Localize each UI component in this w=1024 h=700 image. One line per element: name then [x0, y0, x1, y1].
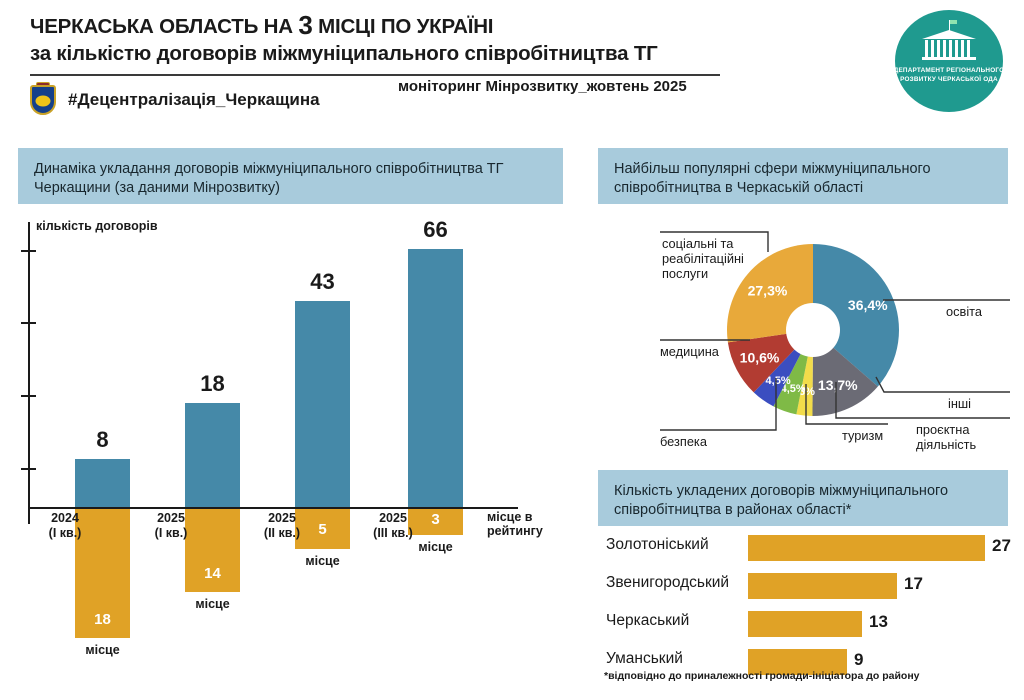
- bar-value-label: 8: [75, 427, 130, 453]
- y-axis-tick: [21, 468, 36, 470]
- banner-rayons: Кількість укладених договорів міжмуніцип…: [598, 470, 1008, 526]
- bar-rank-caption: місце: [175, 597, 250, 611]
- y-axis-tick: [21, 395, 36, 397]
- banner-spheres: Найбільш популярні сфери міжмуніципально…: [598, 148, 1008, 204]
- page-title-prefix: ЧЕРКАСЬКА ОБЛАСТЬ НА: [30, 15, 298, 38]
- banner-dynamics: Динаміка укладання договорів міжмуніципа…: [18, 148, 563, 204]
- x-category-label: 2024(І кв.): [30, 511, 100, 541]
- y-axis-tick: [21, 322, 36, 324]
- rayon-name: Уманський: [606, 650, 683, 668]
- bar-rank-caption: місце: [398, 540, 473, 554]
- donut-label-safety: безпека: [660, 434, 707, 449]
- bar-positive: [408, 249, 463, 507]
- donut-label-medicine: медицина: [660, 344, 719, 359]
- bar-positive: [75, 459, 130, 507]
- bar-rank-value: 14: [185, 565, 240, 582]
- rayon-bar: [748, 611, 862, 637]
- dynamics-bar-chart: кількість договорів місце в рейтингу 8 1…: [0, 205, 570, 675]
- y-axis: [28, 222, 30, 524]
- spheres-donut-chart: 36,4%13,7%3%4,5%4,5%10,6%27,3% соціальні…: [598, 212, 1018, 462]
- bar-rank-value: 18: [75, 611, 130, 628]
- page-title-rank: 3: [298, 10, 312, 40]
- y-axis-label: кількість договорів: [36, 219, 158, 233]
- title-divider: [30, 74, 720, 76]
- rayon-row: Звенигородський 17: [598, 572, 1018, 600]
- donut-slice-percent: 4,5%: [766, 375, 791, 387]
- title-block: ЧЕРКАСЬКА ОБЛАСТЬ НА 3 МІСЦІ ПО УКРАЇНІ …: [30, 12, 730, 67]
- rayon-value: 13: [869, 612, 888, 632]
- page-title-line-1: ЧЕРКАСЬКА ОБЛАСТЬ НА 3 МІСЦІ ПО УКРАЇНІ: [30, 12, 730, 40]
- x-category-label: 2025(ІІ кв.): [247, 511, 317, 541]
- donut-slice-percent: 27,3%: [748, 283, 788, 299]
- rayon-row: Черкаський 13: [598, 610, 1018, 638]
- hashtag-row: #Децентралізація_Черкащина: [28, 82, 320, 118]
- rayon-name: Звенигородський: [606, 574, 729, 592]
- x-category-label: 2025(ІІІ кв.): [358, 511, 428, 541]
- bar-positive: [295, 301, 350, 507]
- bar-value-label: 18: [185, 371, 240, 397]
- monitoring-label: моніторинг Мінрозвитку_жовтень 2025: [398, 78, 687, 95]
- department-logo-text: ДЕПАРТАМЕНТ РЕГІОНАЛЬНОГО РОЗВИТКУ ЧЕРКА…: [893, 66, 1005, 84]
- donut-label-education: освіта: [946, 304, 982, 319]
- donut-label-others: інші: [948, 396, 971, 411]
- cherkasy-coat-of-arms-icon: [28, 82, 58, 118]
- rayon-value: 9: [854, 650, 863, 670]
- rayon-footnote: *відповідно до приналежності громади-іні…: [604, 670, 920, 682]
- x-axis-label: місце в рейтингу: [487, 510, 562, 538]
- page-header: ЧЕРКАСЬКА ОБЛАСТЬ НА 3 МІСЦІ ПО УКРАЇНІ …: [0, 0, 1024, 128]
- donut-label-tourism: туризм: [842, 428, 883, 443]
- bar-value-label: 66: [408, 217, 463, 243]
- rayon-value: 17: [904, 574, 923, 594]
- donut-label-social: соціальні та реабілітаційні послуги: [662, 236, 782, 281]
- page-title-line-2: за кількістю договорів міжмуніципального…: [30, 40, 730, 67]
- bar-rank-caption: місце: [285, 554, 360, 568]
- donut-label-project: проєктна діяльність: [916, 422, 976, 452]
- x-category-label: 2025(І кв.): [136, 511, 206, 541]
- bar-value-label: 43: [295, 269, 350, 295]
- rayon-name: Черкаський: [606, 612, 689, 630]
- bar-rank-caption: місце: [65, 643, 140, 657]
- rayon-value: 27: [992, 536, 1011, 556]
- bar-positive: [185, 403, 240, 507]
- donut-slice-percent: 10,6%: [740, 350, 780, 366]
- rayon-name: Золотоніський: [606, 536, 709, 554]
- y-axis-tick: [21, 250, 36, 252]
- rayon-bar: [748, 573, 897, 599]
- donut-hole: [786, 303, 840, 357]
- donut-slice-percent: 36,4%: [848, 297, 888, 313]
- hashtag-label: #Децентралізація_Черкащина: [68, 90, 320, 110]
- rayon-bar: [748, 535, 985, 561]
- rayon-row: Золотоніський 27: [598, 534, 1018, 562]
- page-title-suffix: МІСЦІ ПО УКРАЇНІ: [313, 15, 494, 38]
- donut-slice-percent: 13,7%: [818, 377, 858, 393]
- department-oval-logo-icon: ДЕПАРТАМЕНТ РЕГІОНАЛЬНОГО РОЗВИТКУ ЧЕРКА…: [893, 8, 1005, 114]
